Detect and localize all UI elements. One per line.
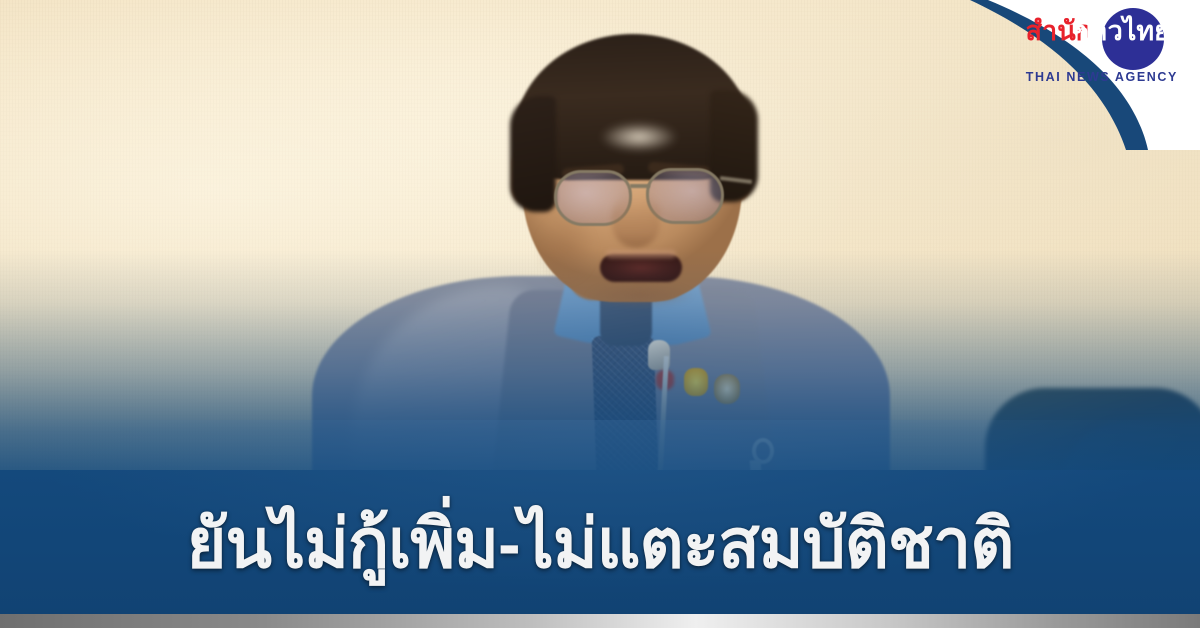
logo-english-text: THAI NEWS AGENCY [1026,70,1178,84]
eyeglasses-bridge [630,184,650,188]
forehead-highlight [600,122,678,152]
blue-vignette [0,420,1200,628]
nose [612,194,660,248]
thai-news-agency-logo[interactable]: สำนัก ข่าวไทย THAI NEWS AGENCY [1010,8,1192,94]
logo-corner: สำนัก ข่าวไทย THAI NEWS AGENCY [940,0,1200,150]
hair-side-left [510,96,556,212]
bottom-accent-bar [0,614,1200,628]
news-thumbnail-image: ยันไม่กู้เพิ่ม-ไม่แตะสมบัติชาติ สำนัก ข่… [0,0,1200,628]
logo-thai-white-text: ข่าวไทย [1074,18,1170,45]
